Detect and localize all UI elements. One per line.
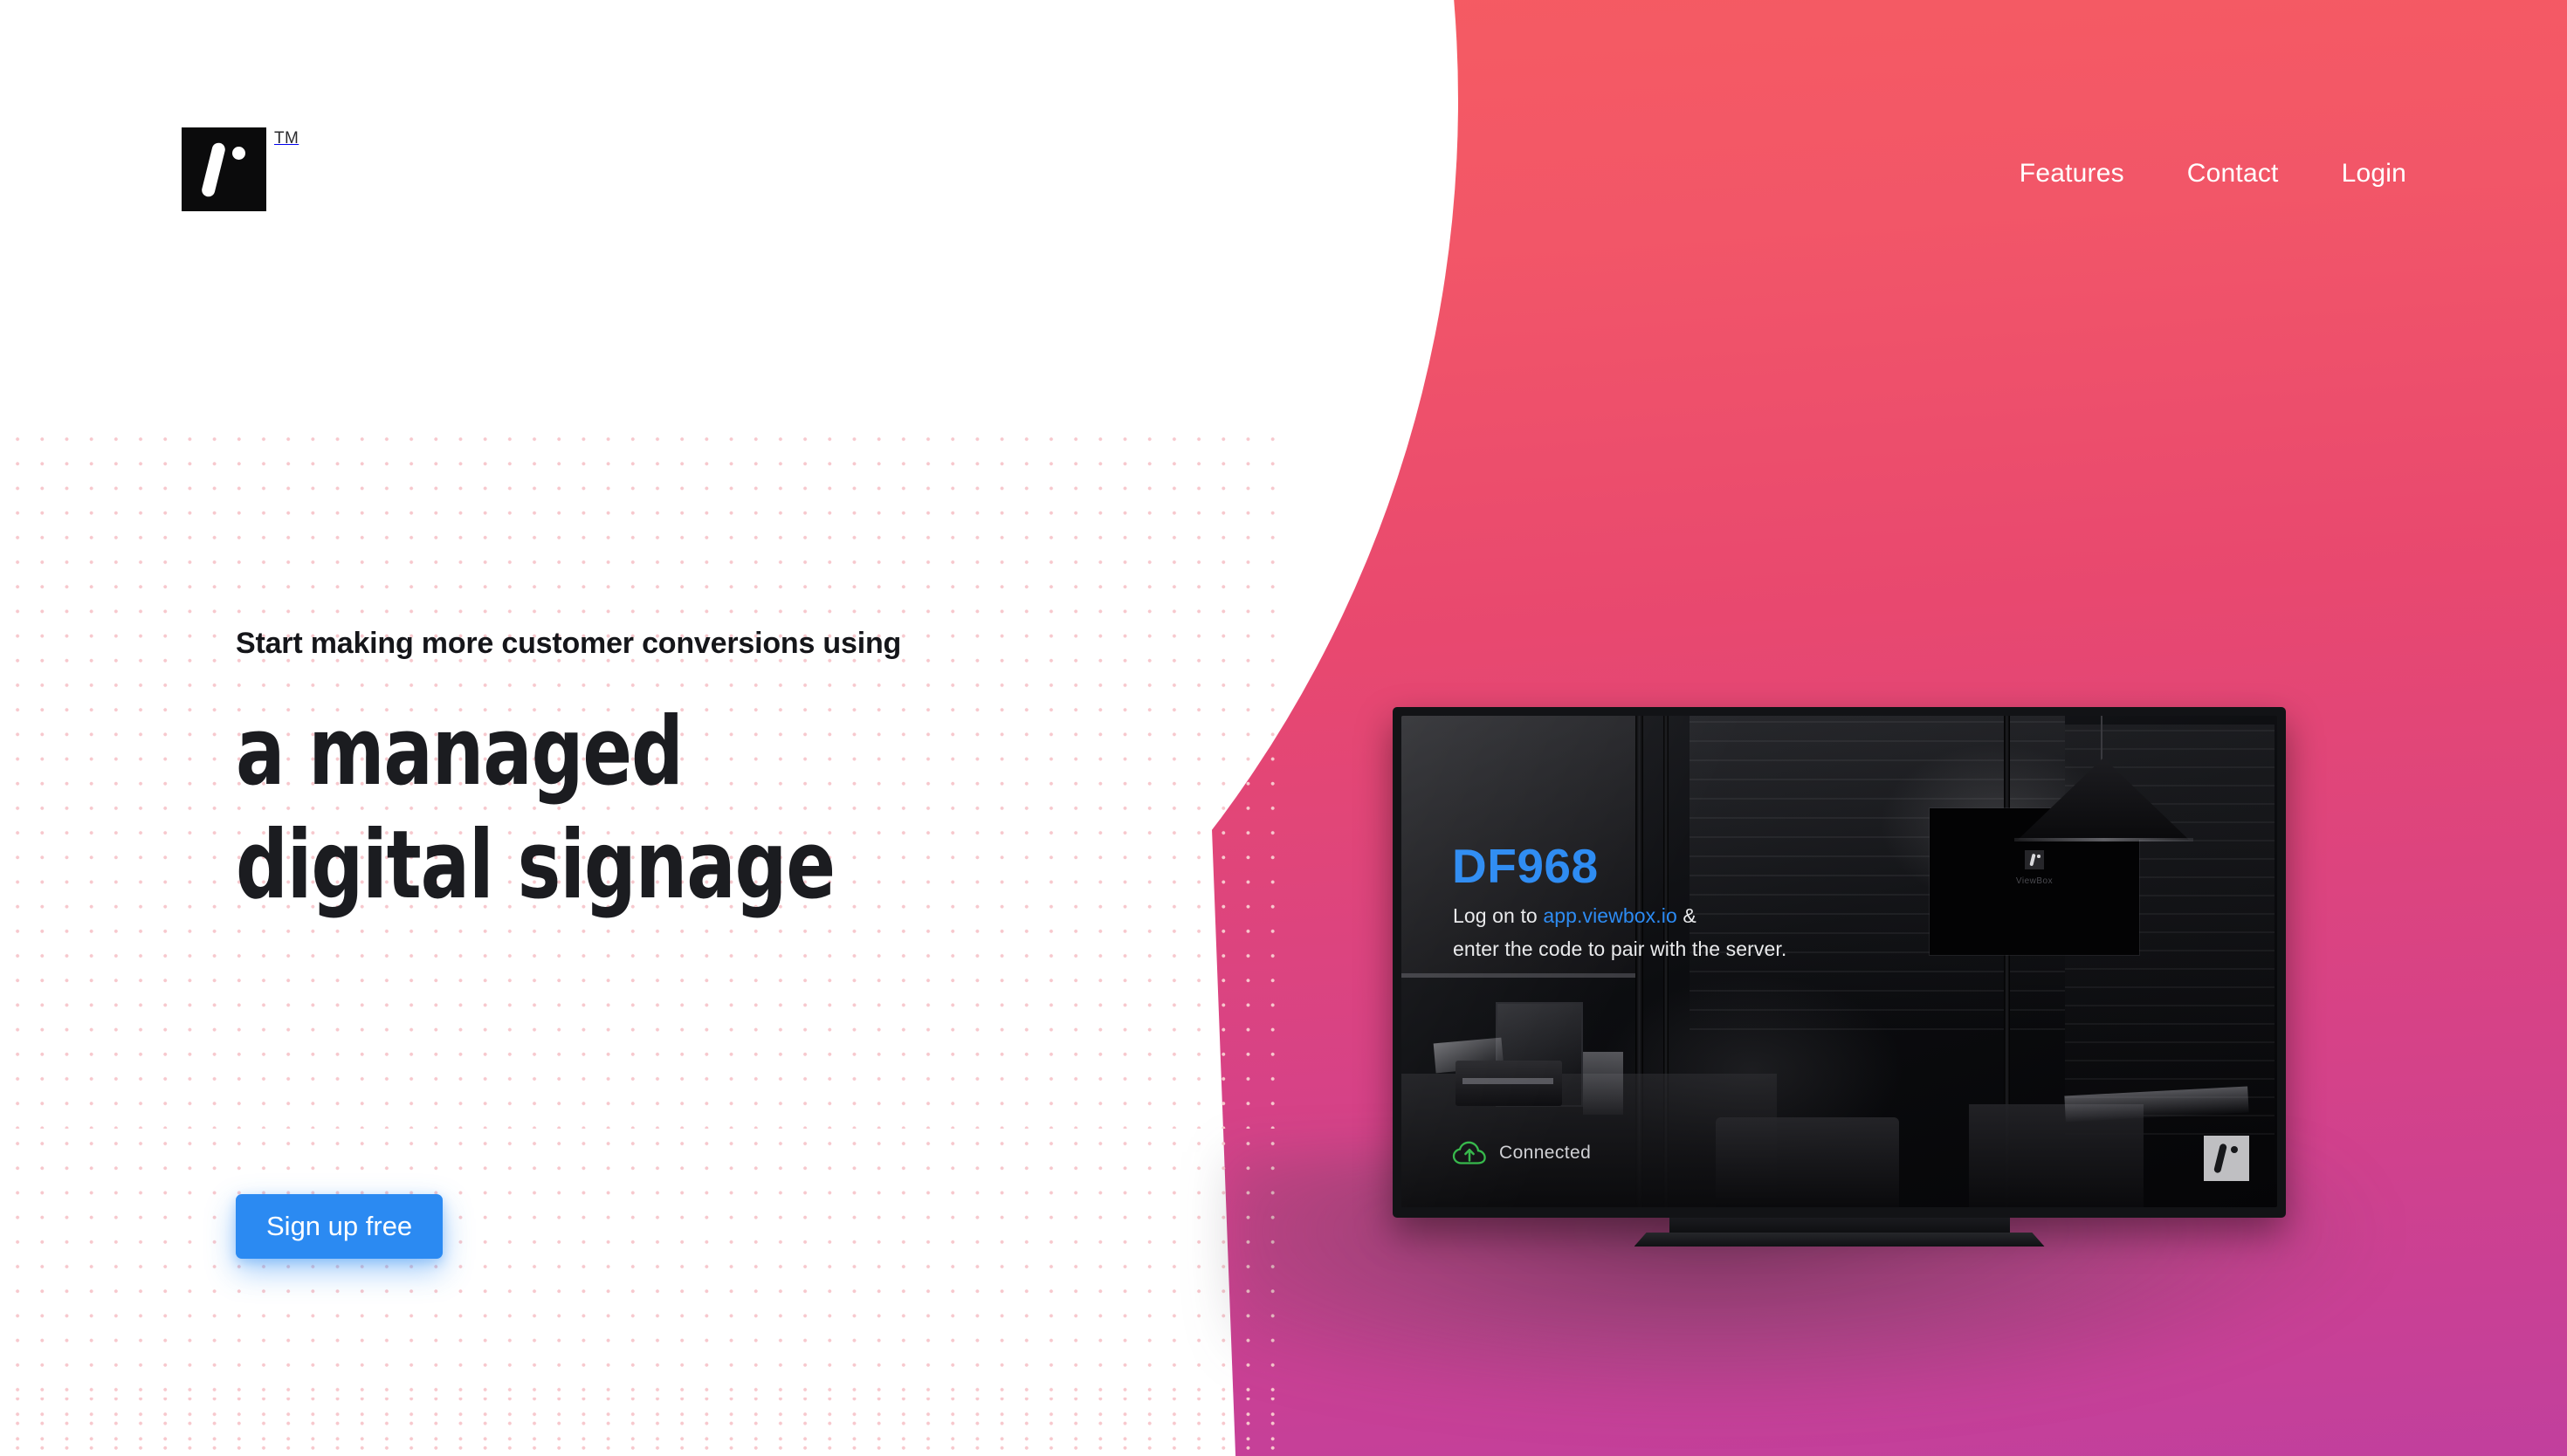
hero-copy-block: Start making more customer conversions u… [236,627,933,923]
dot-grid-pattern-lower [0,1129,1282,1456]
pairing-code: DF968 [1452,838,1599,894]
logo-slash-shape [201,141,227,198]
pairing-instruction-line-1: Log on to app.viewbox.io & [1453,904,1696,928]
main-navigation: Features Contact Login [1988,159,2438,189]
viewbox-v-logo-icon-onscreen [2204,1136,2249,1181]
cloud-upload-icon [1452,1141,1487,1165]
nav-item-login[interactable]: Login [2310,159,2438,189]
logo-dot-shape [2231,1146,2238,1153]
pairing-line1-prefix: Log on to [1453,904,1543,927]
pairing-url-link[interactable]: app.viewbox.io [1543,904,1677,927]
tv-screen: ViewBox DF968 Log on to app.v [1401,716,2277,1207]
nav-item-features[interactable]: Features [1988,159,2156,189]
pairing-instruction-line-2: enter the code to pair with the server. [1453,937,1786,961]
hero-title-line-2: digital signage [236,809,835,923]
site-header: TM Features Contact Login [0,0,2567,188]
sign-up-free-button[interactable]: Sign up free [236,1194,443,1259]
status-badge: Connected [1452,1141,1591,1165]
tv-pairing-overlay: DF968 Log on to app.viewbox.io & enter t… [1401,716,2277,1207]
hero-title-line-1: a managed [236,696,835,809]
pairing-line1-suffix: & [1677,904,1696,927]
tv-product-image: ViewBox DF968 Log on to app.v [1393,707,2286,1218]
hero-kicker-text: Start making more customer conversions u… [236,627,933,661]
logo-slash-shape [2213,1144,2227,1174]
nav-item-contact[interactable]: Contact [2156,159,2310,189]
status-label: Connected [1499,1143,1591,1164]
brand-logo-link[interactable]: TM [182,127,299,211]
trademark-label: TM [274,129,299,148]
viewbox-v-logo-icon [182,127,266,211]
logo-dot-shape [232,147,245,160]
tv-bezel: ViewBox DF968 Log on to app.v [1393,707,2286,1218]
tv-stand-base [1634,1233,2045,1247]
page-title: a managed digital signage [236,696,835,923]
